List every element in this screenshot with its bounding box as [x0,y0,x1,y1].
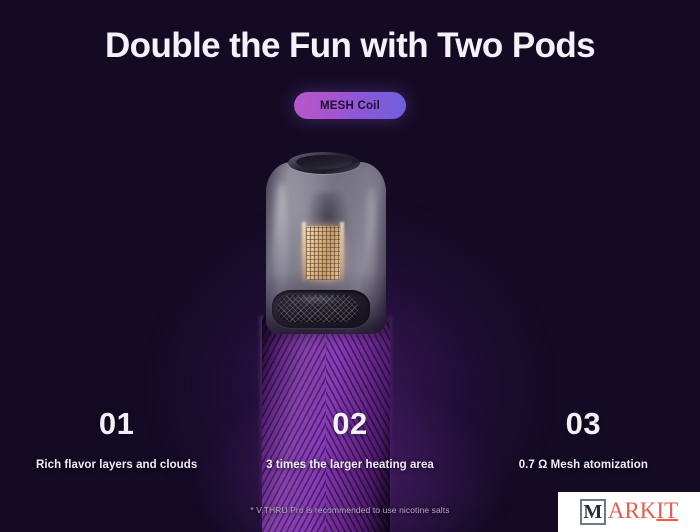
feature-item-02: 02 3 times the larger heating area [233,408,466,490]
air-intake-highlight [284,296,348,302]
feature-item-01: 01 Rich flavor layers and clouds [0,408,233,490]
feature-number: 02 [233,408,466,439]
promo-banner: Double the Fun with Two Pods MESH Coil [0,0,700,532]
feature-number: 01 [0,408,233,439]
watermark-box-letter: M [580,499,606,525]
feature-caption: 0.7 Ω Mesh atomization [467,459,700,471]
feature-caption: 3 times the larger heating area [233,459,466,471]
watermark-logo: M ARK IT [558,492,700,532]
watermark-mid-text: ARK [608,499,657,522]
page-title: Double the Fun with Two Pods [0,26,700,66]
mesh-coil-badge-label: MESH Coil [320,100,380,112]
mouthpiece-opening [296,155,352,169]
mesh-coil-edge-right [340,222,344,282]
mesh-coil-icon [306,226,340,280]
watermark-end-text: IT [656,499,678,522]
pod-highlight-right [366,188,376,292]
feature-item-03: 03 0.7 Ω Mesh atomization [467,408,700,490]
feature-row: 01 Rich flavor layers and clouds 02 3 ti… [0,408,700,490]
pod-highlight-left [274,182,288,302]
feature-caption: Rich flavor layers and clouds [0,459,233,471]
watermark-wordmark: M ARK IT [580,499,678,525]
mesh-coil-badge: MESH Coil [294,92,406,119]
feature-number: 03 [467,408,700,439]
